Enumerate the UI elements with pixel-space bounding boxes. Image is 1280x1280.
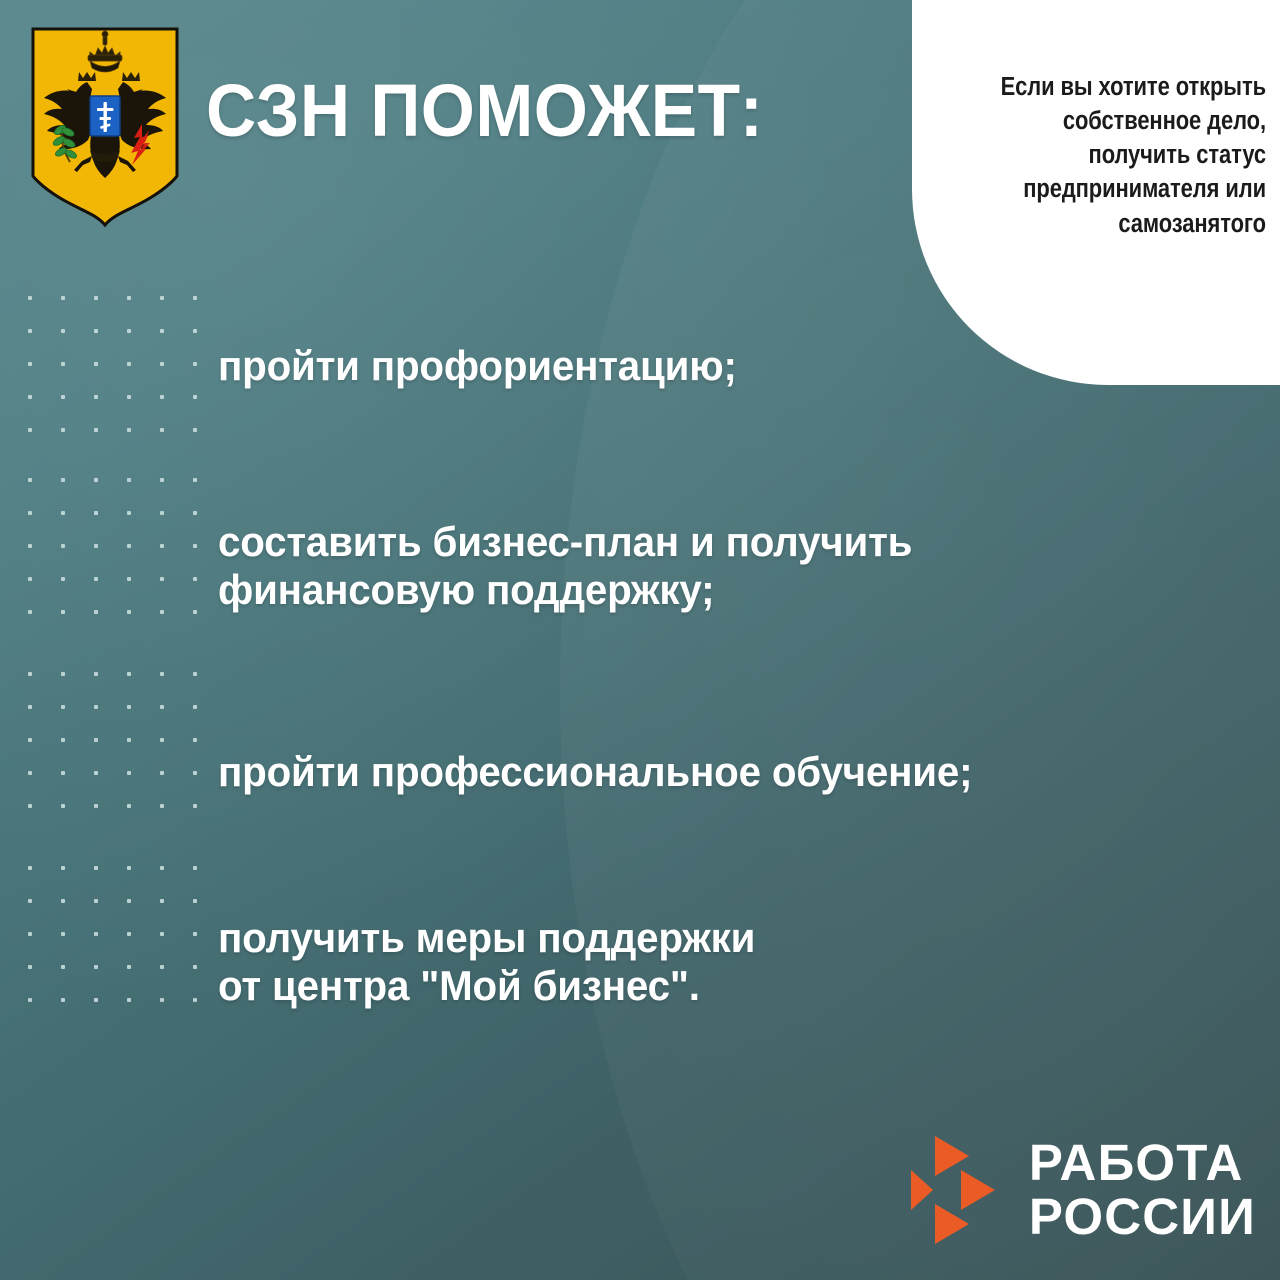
dot	[193, 329, 197, 333]
dot	[94, 577, 98, 581]
dot	[193, 395, 197, 399]
dot	[94, 705, 98, 709]
dot	[160, 705, 164, 709]
dot	[94, 738, 98, 742]
dot	[160, 329, 164, 333]
dot	[61, 329, 65, 333]
dot	[127, 395, 131, 399]
dot	[61, 932, 65, 936]
dot	[28, 478, 32, 482]
dot	[61, 866, 65, 870]
dot	[28, 544, 32, 548]
dot	[94, 771, 98, 775]
dot	[160, 672, 164, 676]
callout-text: Если вы хотите открыть собственное дело,…	[999, 70, 1266, 241]
dot	[94, 329, 98, 333]
dot	[193, 771, 197, 775]
dot	[28, 296, 32, 300]
dot	[61, 738, 65, 742]
dot	[61, 544, 65, 548]
dot	[61, 362, 65, 366]
dot	[28, 965, 32, 969]
dot	[127, 738, 131, 742]
dot	[160, 738, 164, 742]
dot	[61, 965, 65, 969]
dot	[160, 610, 164, 614]
dot	[28, 866, 32, 870]
dot	[127, 771, 131, 775]
coat-of-arms-icon	[30, 26, 180, 228]
dot	[127, 899, 131, 903]
dot	[28, 672, 32, 676]
dot	[61, 610, 65, 614]
dot	[28, 738, 32, 742]
dot	[160, 428, 164, 432]
dot	[127, 296, 131, 300]
dot	[61, 804, 65, 808]
dot	[61, 395, 65, 399]
dot	[193, 511, 197, 515]
dot	[193, 544, 197, 548]
dot	[94, 511, 98, 515]
dot-grid-decoration	[28, 866, 208, 1031]
dot	[94, 362, 98, 366]
dot	[28, 899, 32, 903]
dot	[127, 577, 131, 581]
dot	[127, 965, 131, 969]
dot	[193, 932, 197, 936]
page-title: СЗН ПОМОЖЕТ:	[206, 74, 763, 148]
dot	[127, 478, 131, 482]
dot	[160, 965, 164, 969]
dot	[160, 899, 164, 903]
dot	[160, 511, 164, 515]
dot	[61, 705, 65, 709]
dot	[61, 577, 65, 581]
logo-wordmark: РАБОТА РОССИИ	[1029, 1136, 1256, 1244]
dot	[28, 329, 32, 333]
dot	[127, 804, 131, 808]
dot	[28, 610, 32, 614]
callout-card: Если вы хотите открыть собственное дело,…	[912, 0, 1280, 385]
dot	[193, 577, 197, 581]
dot	[94, 932, 98, 936]
dot-grid-decoration	[28, 478, 208, 643]
dot	[160, 395, 164, 399]
logo-line-2: РОССИИ	[1029, 1190, 1256, 1244]
dot	[61, 899, 65, 903]
dot	[160, 804, 164, 808]
dot	[28, 428, 32, 432]
list-item: пройти профориентацию;	[218, 342, 737, 390]
dot	[61, 998, 65, 1002]
dot	[28, 932, 32, 936]
dot	[61, 428, 65, 432]
dot	[193, 965, 197, 969]
dot	[127, 428, 131, 432]
list-item: составить бизнес-план и получить финансо…	[218, 518, 912, 614]
dot	[160, 771, 164, 775]
dot	[61, 511, 65, 515]
dot	[28, 395, 32, 399]
dot	[127, 672, 131, 676]
dot	[193, 362, 197, 366]
play-triangles-icon	[911, 1134, 1007, 1246]
dot	[193, 610, 197, 614]
dot	[127, 511, 131, 515]
dot-grid-decoration	[28, 296, 208, 461]
dot	[94, 296, 98, 300]
dot	[193, 998, 197, 1002]
dot	[28, 577, 32, 581]
dot-grid-decoration	[28, 672, 208, 837]
dot	[160, 478, 164, 482]
logo-line-1: РАБОТА	[1029, 1136, 1256, 1190]
poster-root: СЗН ПОМОЖЕТ: Если вы хотите открыть собс…	[0, 0, 1280, 1280]
dot	[94, 478, 98, 482]
dot	[61, 771, 65, 775]
dot	[28, 362, 32, 366]
dot	[160, 998, 164, 1002]
dot	[94, 998, 98, 1002]
dot	[61, 296, 65, 300]
dot	[94, 610, 98, 614]
dot	[28, 771, 32, 775]
dot	[127, 705, 131, 709]
dot	[61, 672, 65, 676]
dot	[193, 296, 197, 300]
dot	[94, 804, 98, 808]
dot	[193, 738, 197, 742]
dot	[193, 672, 197, 676]
dot	[193, 705, 197, 709]
dot	[193, 804, 197, 808]
dot	[160, 296, 164, 300]
dot	[160, 362, 164, 366]
rabota-rossii-logo: РАБОТА РОССИИ	[911, 1134, 1256, 1246]
dot	[28, 705, 32, 709]
dot	[127, 329, 131, 333]
dot	[127, 866, 131, 870]
dot	[94, 965, 98, 969]
dot	[193, 478, 197, 482]
dot	[127, 610, 131, 614]
dot	[94, 672, 98, 676]
dot	[193, 428, 197, 432]
dot	[127, 998, 131, 1002]
dot	[94, 866, 98, 870]
dot	[94, 544, 98, 548]
dot	[193, 866, 197, 870]
dot	[160, 866, 164, 870]
dot	[193, 899, 197, 903]
list-item: получить меры поддержки от центра "Мой б…	[218, 914, 755, 1010]
dot	[160, 577, 164, 581]
dot	[94, 899, 98, 903]
dot	[94, 428, 98, 432]
dot	[61, 478, 65, 482]
list-item: пройти профессиональное обучение;	[218, 748, 972, 796]
dot	[127, 544, 131, 548]
dot	[94, 395, 98, 399]
dot	[127, 362, 131, 366]
dot	[127, 932, 131, 936]
dot	[28, 804, 32, 808]
dot	[28, 998, 32, 1002]
dot	[160, 932, 164, 936]
dot	[160, 544, 164, 548]
dot	[28, 511, 32, 515]
